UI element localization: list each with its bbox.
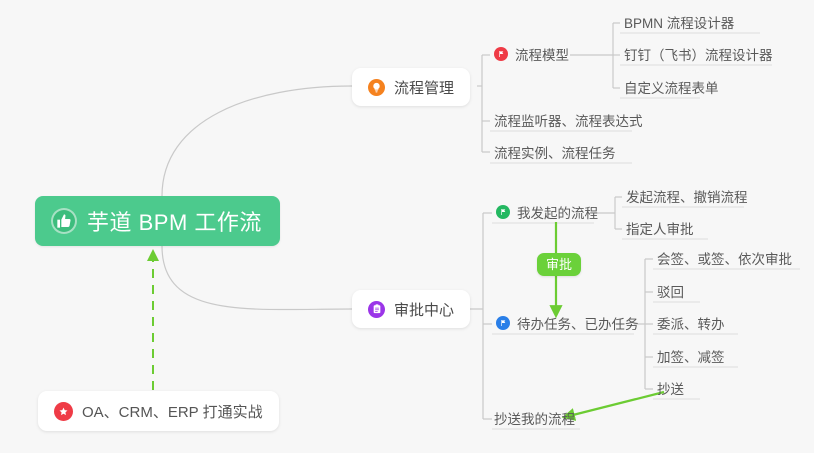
node-label-process-instance-task: 流程实例、流程任务 xyxy=(494,142,616,162)
node-label-todo-done-tasks: 待办任务、已办任务 xyxy=(517,313,639,333)
node-assignee-approval[interactable]: 指定人审批 xyxy=(624,218,698,240)
node-label-add-remove-sign: 加签、减签 xyxy=(657,346,725,366)
approval-badge: 审批 xyxy=(537,253,581,276)
node-reject[interactable]: 驳回 xyxy=(655,281,688,303)
node-label-process-model: 流程模型 xyxy=(515,44,569,64)
node-process-listener-expression[interactable]: 流程监听器、流程表达式 xyxy=(492,110,647,132)
node-label-custom-process-form: 自定义流程表单 xyxy=(624,77,719,97)
node-process-model[interactable]: 流程模型 xyxy=(492,44,573,66)
node-countersign-orsign-sequential[interactable]: 会签、或签、依次审批 xyxy=(655,248,796,270)
node-label-cc-to-me-processes: 抄送我的流程 xyxy=(494,408,575,428)
node-label-start-cancel-process: 发起流程、撤销流程 xyxy=(626,186,748,206)
node-carbon-copy[interactable]: 抄送 xyxy=(655,378,688,400)
node-label-countersign-orsign-sequential: 会签、或签、依次审批 xyxy=(657,248,792,268)
node-bpmn-designer[interactable]: BPMN 流程设计器 xyxy=(622,12,738,34)
floating-note-label: OA、CRM、ERP 打通实战 xyxy=(82,401,263,422)
node-label-bpmn-designer: BPMN 流程设计器 xyxy=(624,12,734,32)
node-process-instance-task[interactable]: 流程实例、流程任务 xyxy=(492,142,620,164)
node-add-remove-sign[interactable]: 加签、减签 xyxy=(655,346,729,368)
node-cc-to-me-processes[interactable]: 抄送我的流程 xyxy=(492,408,579,430)
node-my-started-processes[interactable]: 我发起的流程 xyxy=(494,202,602,224)
flag-green-icon xyxy=(496,205,510,219)
branch-label-approval-center: 审批中心 xyxy=(394,299,454,320)
node-label-carbon-copy: 抄送 xyxy=(657,378,684,398)
flag-red-icon xyxy=(494,47,508,61)
floating-note-oa-crm-erp[interactable]: OA、CRM、ERP 打通实战 xyxy=(38,391,279,431)
lightbulb-icon xyxy=(368,79,385,96)
node-label-my-started-processes: 我发起的流程 xyxy=(517,202,598,222)
node-label-dingtalk-feishu-designer: 钉钉（飞书）流程设计器 xyxy=(624,44,773,64)
thumbs-up-icon xyxy=(51,208,77,234)
root-node-label: 芋道 BPM 工作流 xyxy=(87,205,262,237)
node-label-delegate-transfer: 委派、转办 xyxy=(657,313,725,333)
node-todo-done-tasks[interactable]: 待办任务、已办任务 xyxy=(494,313,643,335)
node-custom-process-form[interactable]: 自定义流程表单 xyxy=(622,77,723,99)
node-start-cancel-process[interactable]: 发起流程、撤销流程 xyxy=(624,186,752,208)
clipboard-icon xyxy=(368,301,385,318)
mindmap-canvas: 芋道 BPM 工作流 流程管理 流程模型 流程监听器、流程表达式 流程实例、流程… xyxy=(0,0,814,453)
star-icon xyxy=(54,402,73,421)
node-label-process-listener-expression: 流程监听器、流程表达式 xyxy=(494,110,643,130)
branch-node-approval-center[interactable]: 审批中心 xyxy=(352,290,470,328)
node-dingtalk-feishu-designer[interactable]: 钉钉（飞书）流程设计器 xyxy=(622,44,777,66)
node-label-assignee-approval: 指定人审批 xyxy=(626,218,694,238)
flag-blue-icon xyxy=(496,316,510,330)
root-node[interactable]: 芋道 BPM 工作流 xyxy=(35,196,280,246)
branch-node-process-management[interactable]: 流程管理 xyxy=(352,68,470,106)
branch-label-process-management: 流程管理 xyxy=(394,77,454,98)
node-label-reject: 驳回 xyxy=(657,281,684,301)
node-delegate-transfer[interactable]: 委派、转办 xyxy=(655,313,729,335)
